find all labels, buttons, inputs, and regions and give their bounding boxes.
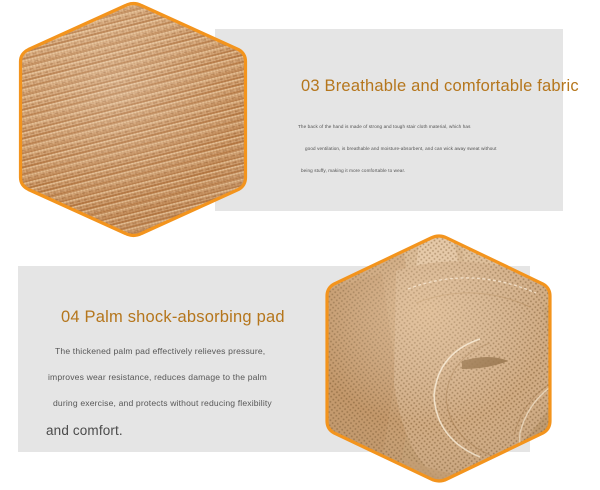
body-line: good ventilation, is breathable and mois… <box>298 138 568 160</box>
product-feature-poster: 03 Breathable and comfortable fabric The… <box>0 0 600 490</box>
section-03-heading: 03 Breathable and comfortable fabric <box>301 77 579 96</box>
palm-pad-photo <box>302 233 587 490</box>
section-03-hexagon-image <box>13 3 253 236</box>
section-04-body: The thickened palm pad effectively relie… <box>46 338 346 446</box>
body-line: improves wear resistance, reduces damage… <box>46 364 346 390</box>
body-line: being stuffy, making it more comfortable… <box>298 160 568 182</box>
body-line: during exercise, and protects without re… <box>46 390 346 416</box>
fabric-texture <box>3 0 273 253</box>
body-line: The back of the hand is made of strong a… <box>298 116 568 138</box>
body-line: and comfort. <box>46 416 346 446</box>
body-line: The thickened palm pad effectively relie… <box>46 338 346 364</box>
section-04-hexagon-image <box>312 243 565 474</box>
section-04-heading: 04 Palm shock-absorbing pad <box>61 308 285 327</box>
section-03-body: The back of the hand is made of strong a… <box>298 116 568 182</box>
